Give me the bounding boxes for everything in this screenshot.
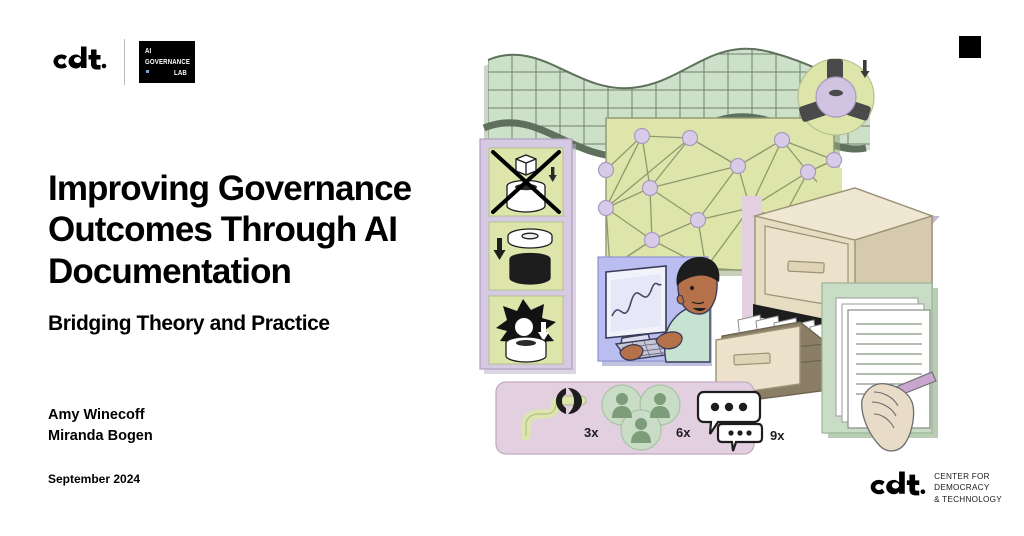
ai-governance-lab-badge: AI GOVERNANCE LAB	[139, 41, 195, 83]
panel-burst-disc	[489, 296, 563, 364]
footer-brand-logo: CENTER FOR DEMOCRACY & TECHNOLOGY	[865, 470, 1002, 506]
lab-badge-line-2: GOVERNANCE	[145, 57, 190, 66]
brand-logo-row: AI GOVERNANCE LAB	[48, 38, 195, 86]
footer-line-2: DEMOCRACY	[934, 482, 1002, 494]
logo-divider	[124, 39, 125, 85]
metric-count-1: 3x	[584, 425, 599, 440]
cdt-wordmark-icon	[48, 45, 108, 80]
stacked-instruction-panels	[480, 139, 576, 374]
author-list: Amy Winecoff Miranda Bogen	[48, 405, 153, 447]
footer-line-1: CENTER FOR	[934, 471, 1002, 483]
lab-badge-line-3: LAB	[174, 68, 187, 77]
metric-count-2: 6x	[676, 425, 691, 440]
metric-count-3: 9x	[770, 428, 785, 443]
page-title: Improving Governance Outcomes Through AI…	[48, 168, 478, 292]
publication-date: September 2024	[48, 472, 140, 486]
author-name: Miranda Bogen	[48, 426, 153, 447]
footer-line-3: & TECHNOLOGY	[934, 494, 1002, 506]
metrics-bar: 3x 6x	[496, 382, 785, 454]
corner-square-mark	[959, 36, 981, 58]
panel-disc-insert	[489, 222, 563, 290]
cover-illustration: 3x 6x	[470, 40, 950, 470]
page-subtitle: Bridging Theory and Practice	[48, 312, 330, 336]
author-name: Amy Winecoff	[48, 405, 153, 426]
lab-badge-line-1: AI	[145, 46, 151, 55]
footer-brand-text: CENTER FOR DEMOCRACY & TECHNOLOGY	[934, 471, 1002, 506]
lab-badge-dot-icon	[146, 70, 149, 73]
panel-forbidden-cube	[489, 148, 563, 216]
document-writing-illustration	[822, 283, 938, 451]
footer-cdt-wordmark-icon	[865, 470, 927, 506]
person-at-computer-illustration	[598, 257, 719, 366]
